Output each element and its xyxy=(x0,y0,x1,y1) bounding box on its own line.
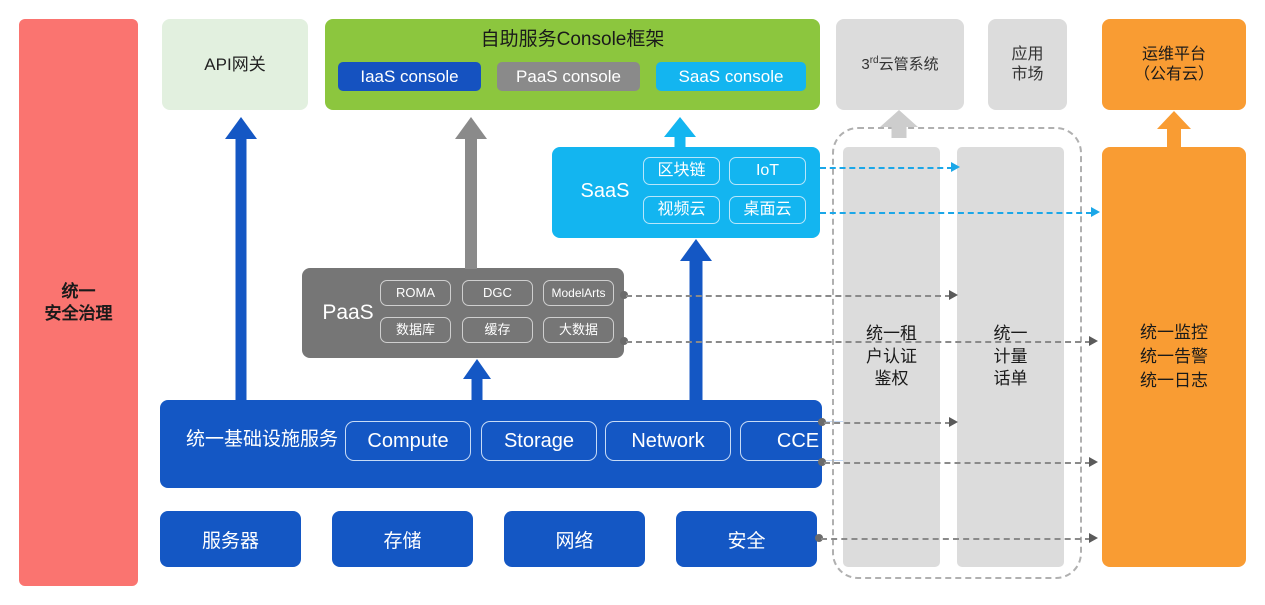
self-service-console-frame: 自助服务Console框架 IaaS console PaaS console … xyxy=(325,19,820,110)
arrow-paas-to-console xyxy=(455,117,487,269)
ops-column-label: 统一监控 统一告警 统一日志 xyxy=(1140,321,1208,392)
paas-block-label: PaaS xyxy=(312,300,384,326)
paas-console-chip[interactable]: PaaS console xyxy=(497,62,640,91)
hardware-box-security: 安全 xyxy=(676,511,817,567)
ops-platform-public-cloud-box: 运维平台 （公有云） xyxy=(1102,19,1246,110)
dashed-paas-to-ops-arrowhead xyxy=(1089,336,1098,346)
arrow-infra-to-saas xyxy=(680,239,712,401)
dashed-infra-to-auth xyxy=(824,422,951,424)
dashed-hardware-to-ops xyxy=(821,538,1091,540)
ops-top-label: 运维平台 （公有云） xyxy=(1134,45,1214,85)
paas-chip-modelarts[interactable]: ModelArts xyxy=(543,280,614,306)
billing-column-label: 统一 计量 话单 xyxy=(994,323,1028,392)
paas-block: PaaS ROMA DGC ModelArts 数据库 缓存 大数据 xyxy=(302,268,624,358)
unified-security-governance-pillar: 统一 安全治理 xyxy=(19,19,138,586)
dashed-paas-to-auth xyxy=(626,295,951,297)
architecture-diagram: 统一 安全治理 API网关 自助服务Console框架 IaaS console… xyxy=(0,0,1265,605)
arrow-saas-to-console xyxy=(664,117,696,149)
security-pillar-label: 统一 安全治理 xyxy=(45,281,113,324)
saas-chip-desktop-cloud[interactable]: 桌面云 xyxy=(729,196,806,224)
iaas-console-chip[interactable]: IaaS console xyxy=(338,62,481,91)
saas-console-chip[interactable]: SaaS console xyxy=(656,62,806,91)
third-cloud-label-post: 云管系统 xyxy=(879,56,939,73)
saas-block-label: SaaS xyxy=(564,179,646,204)
arrow-infra-to-paas xyxy=(463,359,491,401)
dashed-infra-to-auth-arrowhead xyxy=(949,417,958,427)
dashed-saas-to-auth-arrowhead xyxy=(951,162,960,172)
console-frame-title: 自助服务Console框架 xyxy=(325,28,820,52)
app-market-box: 应用 市场 xyxy=(988,19,1067,110)
unified-metering-billing-column: 统一 计量 话单 xyxy=(957,147,1064,567)
third-cloud-label-sup: rd xyxy=(870,55,879,66)
infra-chip-compute[interactable]: Compute xyxy=(345,421,471,461)
dashed-infra-to-ops-arrowhead xyxy=(1089,457,1098,467)
paas-chip-cache[interactable]: 缓存 xyxy=(462,317,533,343)
hardware-box-server: 服务器 xyxy=(160,511,301,567)
third-cloud-label: 3rd云管系统 xyxy=(861,55,938,75)
third-cloud-label-pre: 3 xyxy=(861,56,869,73)
paas-chip-roma[interactable]: ROMA xyxy=(380,280,451,306)
dashed-saas-to-ops-arrowhead xyxy=(1091,207,1100,217)
arrow-shared-to-third-cloud xyxy=(880,110,918,138)
saas-chip-iot[interactable]: IoT xyxy=(729,157,806,185)
third-party-cloud-management-box: 3rd云管系统 xyxy=(836,19,964,110)
saas-chip-blockchain[interactable]: 区块链 xyxy=(643,157,720,185)
hardware-box-storage: 存储 xyxy=(332,511,473,567)
infra-block-label: 统一基础设施服务 xyxy=(174,428,350,452)
arrow-ops-column-to-ops-top xyxy=(1157,111,1191,148)
dashed-paas-to-ops xyxy=(626,341,1091,343)
dashed-hardware-to-ops-arrowhead xyxy=(1089,533,1098,543)
dashed-paas-to-auth-arrowhead xyxy=(949,290,958,300)
unified-tenant-auth-column: 统一租 户认证 鉴权 xyxy=(843,147,940,567)
unified-monitoring-alarm-log-column: 统一监控 统一告警 统一日志 xyxy=(1102,147,1246,567)
arrow-infra-to-api-gateway xyxy=(225,117,257,400)
dashed-saas-to-auth xyxy=(820,167,953,169)
auth-column-label: 统一租 户认证 鉴权 xyxy=(866,323,917,392)
infra-chip-network[interactable]: Network xyxy=(605,421,731,461)
saas-chip-video-cloud[interactable]: 视频云 xyxy=(643,196,720,224)
paas-chip-bigdata[interactable]: 大数据 xyxy=(543,317,614,343)
app-market-label: 应用 市场 xyxy=(1011,45,1043,85)
dashed-saas-to-ops xyxy=(820,212,1092,214)
api-gateway-label: API网关 xyxy=(204,54,265,75)
api-gateway-box: API网关 xyxy=(162,19,308,110)
hardware-box-network: 网络 xyxy=(504,511,645,567)
paas-chip-database[interactable]: 数据库 xyxy=(380,317,451,343)
infra-chip-storage[interactable]: Storage xyxy=(481,421,597,461)
unified-infrastructure-service-block: 统一基础设施服务 Compute Storage Network CCE xyxy=(160,400,822,488)
paas-chip-dgc[interactable]: DGC xyxy=(462,280,533,306)
dashed-infra-to-ops xyxy=(824,462,1091,464)
saas-block: SaaS 区块链 IoT 视频云 桌面云 xyxy=(552,147,820,238)
